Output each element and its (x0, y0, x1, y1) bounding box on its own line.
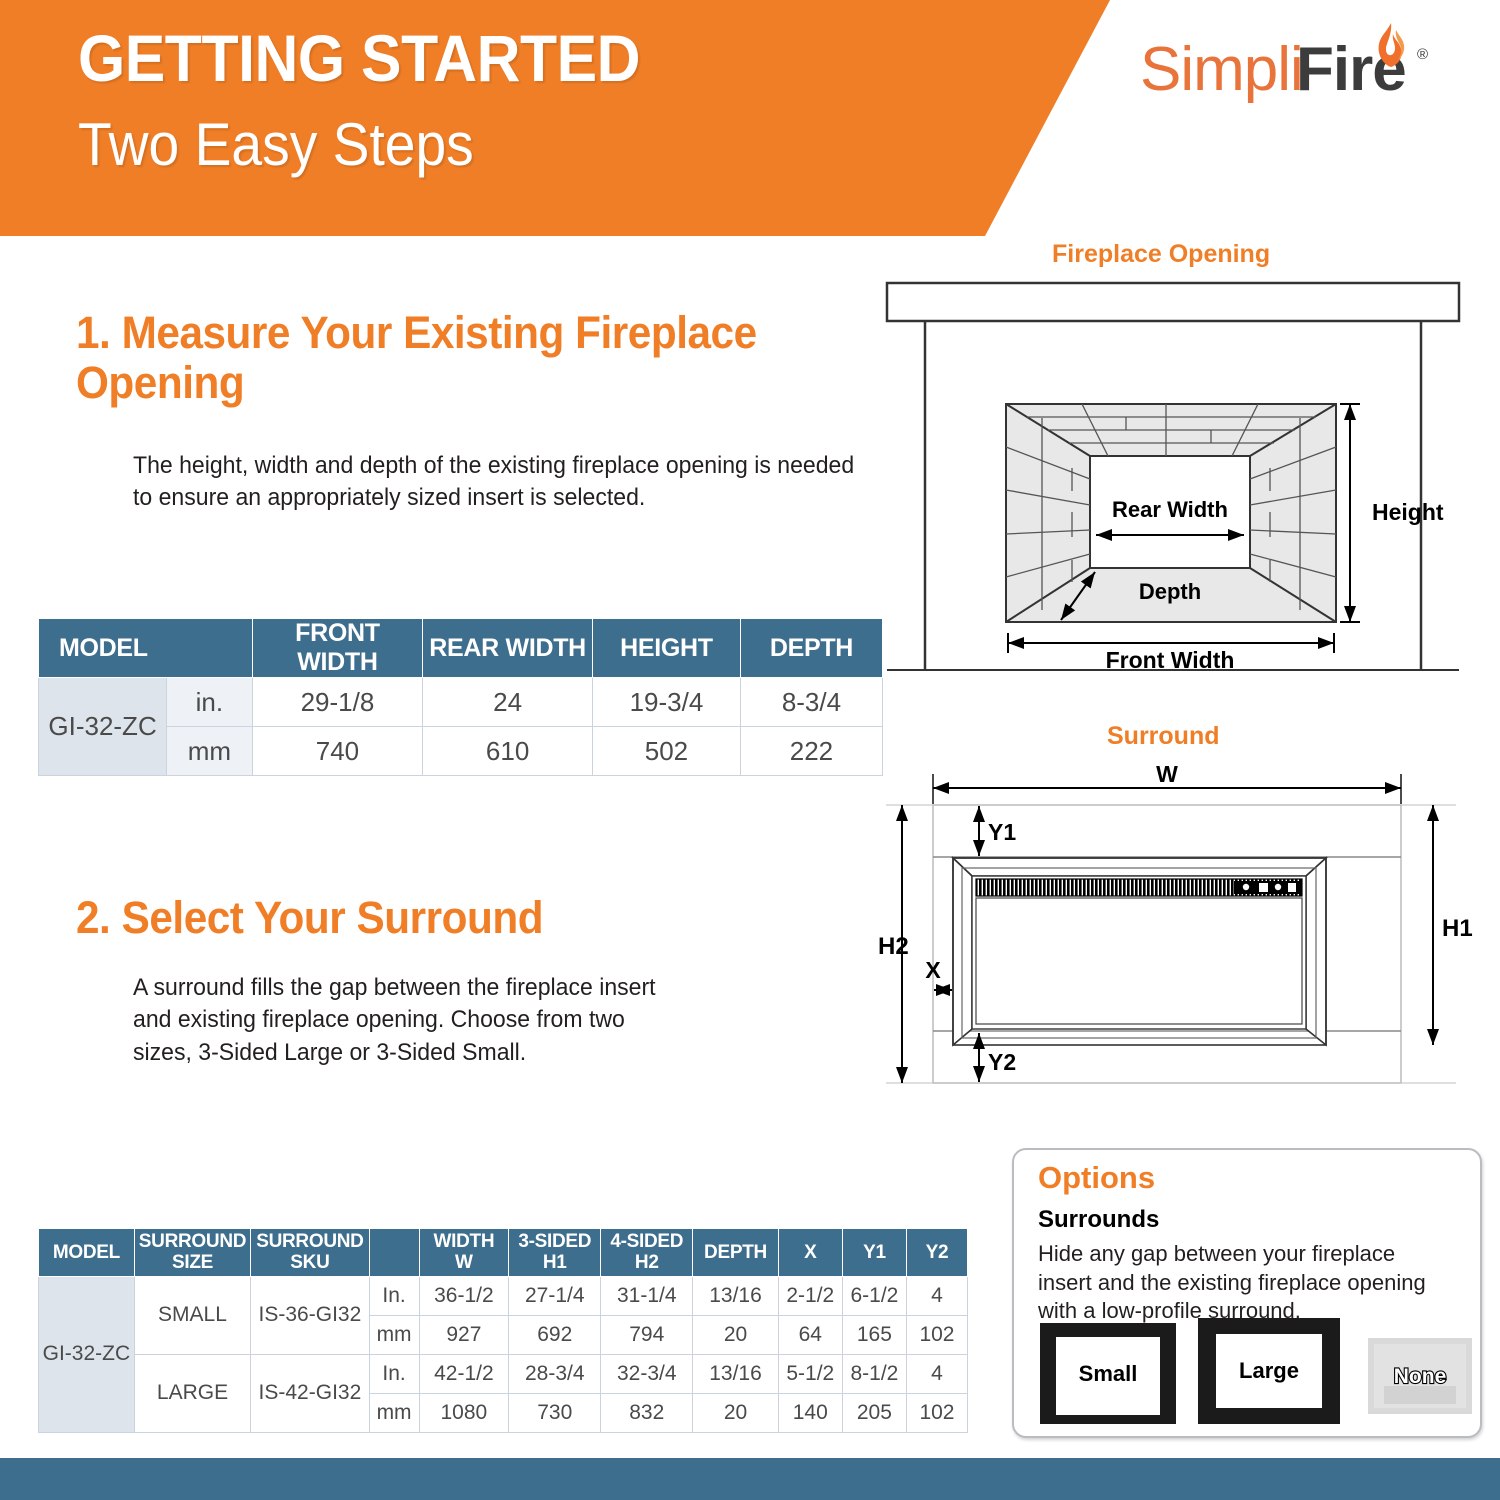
th-front-width: FRONT WIDTH (252, 619, 423, 678)
th-y1: Y1 (842, 1229, 906, 1277)
cell-unit: In. (369, 1276, 419, 1315)
cell-surround-size: LARGE (134, 1354, 250, 1432)
label-front-width: Front Width (1106, 647, 1235, 673)
table-row: LARGE IS-42-GI32 In. 42-1/2 28-3/4 32-3/… (39, 1354, 968, 1393)
th-line-1: WIDTH (433, 1231, 494, 1252)
label-rear-width: Rear Width (1112, 497, 1228, 522)
cell-width: 927 (419, 1315, 509, 1354)
cell-y2: 4 (906, 1354, 967, 1393)
cell-width: 36-1/2 (419, 1276, 509, 1315)
th-surround-sku: SURROUND SKU (251, 1229, 369, 1277)
th-4sided-h2: 4-SIDED H2 (601, 1229, 693, 1277)
page-subtitle: Two Easy Steps (78, 113, 474, 176)
cell-h2: 32-3/4 (601, 1354, 693, 1393)
options-subtitle: Surrounds (1038, 1206, 1159, 1234)
footer-bar (0, 1458, 1500, 1500)
cell-x: 64 (778, 1315, 842, 1354)
th-3sided-h1: 3-SIDED H1 (509, 1229, 601, 1277)
cell-x: 2-1/2 (778, 1276, 842, 1315)
th-model: MODEL (39, 1229, 135, 1277)
th-line-2: H2 (635, 1252, 659, 1273)
cell-unit: in. (167, 678, 253, 727)
cell-h1: 27-1/4 (509, 1276, 601, 1315)
cell-depth: 222 (740, 727, 882, 776)
th-line-2: W (455, 1252, 473, 1273)
step-1-body: The height, width and depth of the exist… (133, 450, 863, 515)
label-depth: Depth (1139, 579, 1201, 604)
cell-x: 5-1/2 (778, 1354, 842, 1393)
page-title: GETTING STARTED (78, 24, 640, 93)
cell-depth: 20 (693, 1315, 778, 1354)
surround-dimensions-table: MODEL SURROUND SIZE SURROUND SKU WIDTH W… (38, 1228, 968, 1433)
cell-width: 1080 (419, 1393, 509, 1432)
cell-surround-sku: IS-36-GI32 (251, 1276, 369, 1354)
th-model: MODEL (39, 619, 253, 678)
cell-y2: 102 (906, 1315, 967, 1354)
cell-depth: 13/16 (693, 1276, 778, 1315)
fireplace-diagram-title: Fireplace Opening (1052, 240, 1270, 269)
th-y2: Y2 (906, 1229, 967, 1277)
fireplace-opening-diagram: Rear Width Depth Height Front Width (876, 272, 1476, 682)
label-w: W (1156, 761, 1178, 787)
th-line-1: 4-SIDED (610, 1231, 683, 1252)
cell-depth: 8-3/4 (740, 678, 882, 727)
cell-h1: 730 (509, 1393, 601, 1432)
label-y2: Y2 (988, 1049, 1016, 1075)
th-height: HEIGHT (592, 619, 740, 678)
label-h2: H2 (878, 933, 909, 960)
cell-surround-size: SMALL (134, 1276, 250, 1354)
cell-y1: 205 (842, 1393, 906, 1432)
surround-diagram-title: Surround (1107, 722, 1220, 751)
th-line-2: H1 (543, 1252, 567, 1273)
th-line-2: SIZE (172, 1252, 213, 1273)
th-depth: DEPTH (740, 619, 882, 678)
table-header-row: MODEL SURROUND SIZE SURROUND SKU WIDTH W… (39, 1229, 968, 1277)
th-depth: DEPTH (693, 1229, 778, 1277)
cell-y1: 165 (842, 1315, 906, 1354)
options-title: Options (1038, 1160, 1155, 1196)
cell-rear-width: 610 (423, 727, 593, 776)
cell-width: 42-1/2 (419, 1354, 509, 1393)
cell-y1: 6-1/2 (842, 1276, 906, 1315)
table-row: GI-32-ZC SMALL IS-36-GI32 In. 36-1/2 27-… (39, 1276, 968, 1315)
th-width: WIDTH W (419, 1229, 509, 1277)
cell-model: GI-32-ZC (39, 1276, 135, 1432)
surround-thumbnail-none[interactable]: None (1368, 1338, 1472, 1414)
step-2-heading: 2. Select Your Surround (76, 893, 790, 943)
registered-trademark-symbol: ® (1417, 46, 1428, 63)
cell-depth: 13/16 (693, 1354, 778, 1393)
th-line-2: SKU (290, 1252, 329, 1273)
cell-y1: 8-1/2 (842, 1354, 906, 1393)
cell-front-width: 29-1/8 (252, 678, 423, 727)
options-description: Hide any gap between your fireplace inse… (1038, 1240, 1448, 1326)
logo-text-simpli: Simpli (1140, 34, 1303, 105)
cell-unit: mm (369, 1393, 419, 1432)
th-rear-width: REAR WIDTH (423, 619, 593, 678)
cell-unit: mm (369, 1315, 419, 1354)
cell-model: GI-32-ZC (39, 678, 167, 776)
cell-unit: In. (369, 1354, 419, 1393)
surround-diagram: W H2 H1 Y1 Y2 X (876, 748, 1476, 1138)
cell-h2: 794 (601, 1315, 693, 1354)
table-header-row: MODEL FRONT WIDTH REAR WIDTH HEIGHT DEPT… (39, 619, 883, 678)
label-y1: Y1 (988, 819, 1016, 845)
th-surround-size: SURROUND SIZE (134, 1229, 250, 1277)
cell-rear-width: 24 (423, 678, 593, 727)
label-x: X (925, 957, 941, 983)
brand-logo: Simpli Fire ® (1140, 28, 1440, 108)
surround-thumbnail-small[interactable]: Small (1040, 1323, 1176, 1424)
th-line-1: SURROUND (256, 1231, 363, 1252)
cell-h1: 692 (509, 1315, 601, 1354)
fireplace-dimensions-table: MODEL FRONT WIDTH REAR WIDTH HEIGHT DEPT… (38, 618, 883, 776)
cell-h2: 31-1/4 (601, 1276, 693, 1315)
cell-h1: 28-3/4 (509, 1354, 601, 1393)
cell-depth: 20 (693, 1393, 778, 1432)
cell-height: 19-3/4 (592, 678, 740, 727)
th-x: X (778, 1229, 842, 1277)
th-line-1: 3-SIDED (518, 1231, 591, 1252)
cell-h2: 832 (601, 1393, 693, 1432)
th-unit (369, 1229, 419, 1277)
label-height: Height (1372, 499, 1444, 525)
cell-surround-sku: IS-42-GI32 (251, 1354, 369, 1432)
cell-y2: 102 (906, 1393, 967, 1432)
table-row: GI-32-ZC in. 29-1/8 24 19-3/4 8-3/4 (39, 678, 883, 727)
label-h1: H1 (1442, 915, 1473, 942)
cell-unit: mm (167, 727, 253, 776)
thumbnail-label-large: Large (1239, 1358, 1299, 1383)
step-2-body: A surround fills the gap between the fir… (133, 972, 671, 1069)
thumbnail-label-none: None (1394, 1365, 1447, 1388)
thumbnail-label-small: Small (1079, 1361, 1138, 1386)
flame-icon (1369, 22, 1409, 68)
cell-front-width: 740 (252, 727, 423, 776)
cell-y2: 4 (906, 1276, 967, 1315)
th-line-1: SURROUND (139, 1231, 246, 1252)
cell-x: 140 (778, 1393, 842, 1432)
cell-height: 502 (592, 727, 740, 776)
step-1-heading: 1. Measure Your Existing Fireplace Openi… (76, 308, 790, 409)
surround-thumbnail-large[interactable]: Large (1198, 1318, 1340, 1424)
